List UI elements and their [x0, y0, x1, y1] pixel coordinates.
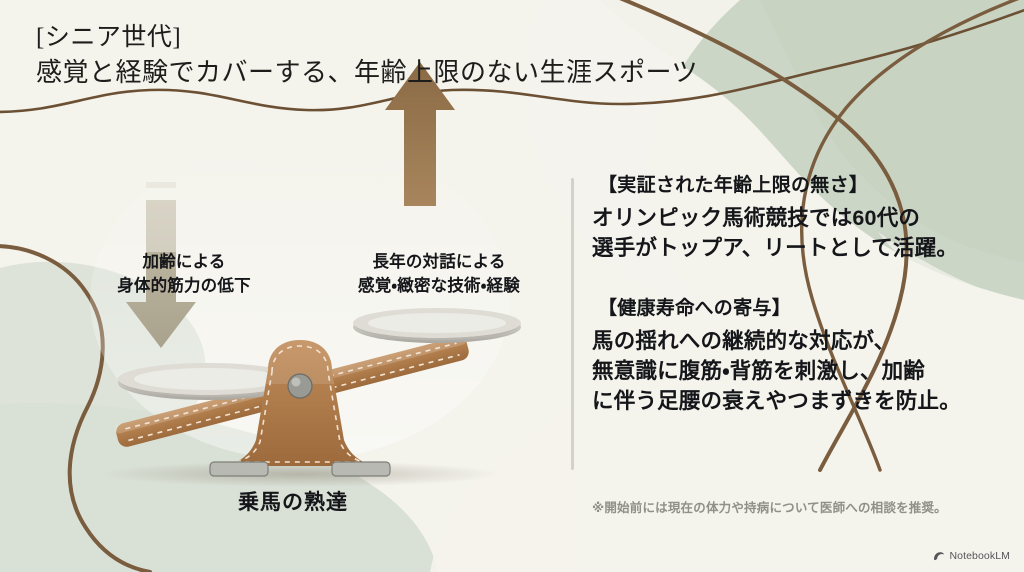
scale-label-left: 加齢による 身体的筋力の低下: [72, 251, 296, 299]
page-title: [シニア世代] 感覚と経験でカバーする、年齢上限のない生涯スポーツ: [36, 22, 698, 89]
info-block: 【健康寿命への寄与】 馬の揺れへの継続的な対応が、 無意識に腹筋・背筋を刺激し、…: [592, 293, 1000, 416]
slide-canvas: [シニア世代] 感覚と経験でカバーする、年齢上限のない生涯スポーツ 加齢による …: [0, 0, 1024, 572]
info-block-heading: 【健康寿命への寄与】: [598, 293, 1000, 320]
notebooklm-label: NotebookLM: [949, 550, 1010, 562]
illustration-caption: 乗馬の熟達: [183, 486, 403, 516]
title-line-1: [シニア世代]: [36, 22, 698, 54]
notebooklm-icon: [933, 550, 945, 562]
notebooklm-badge: NotebookLM: [933, 550, 1010, 562]
info-block-body: 馬の揺れへの継続的な対応が、 無意識に腹筋・背筋を刺激し、加齢 に伴う足腰の衰え…: [592, 327, 1000, 416]
title-line-2: 感覚と経験でカバーする、年齢上限のない生涯スポーツ: [36, 56, 698, 89]
info-block-body: オリンピック馬術競技では60代の 選手がトップア、リートとして活躍。: [592, 204, 1000, 263]
panel-divider: [571, 178, 574, 470]
scale-pan-right: [353, 308, 521, 343]
scale-label-right: 長年の対話による 感覚・緻密な技術・経験: [312, 251, 566, 299]
info-block: 【実証された年齢上限の無さ】 オリンピック馬術競技では60代の 選手がトップア、…: [592, 170, 1000, 263]
info-panel: 【実証された年齢上限の無さ】 オリンピック馬術競技では60代の 選手がトップア、…: [592, 170, 1000, 438]
panel-footnote: ※開始前には現在の体力や持病について医師への相談を推奨。: [592, 497, 1012, 516]
info-block-heading: 【実証された年齢上限の無さ】: [598, 170, 1000, 197]
